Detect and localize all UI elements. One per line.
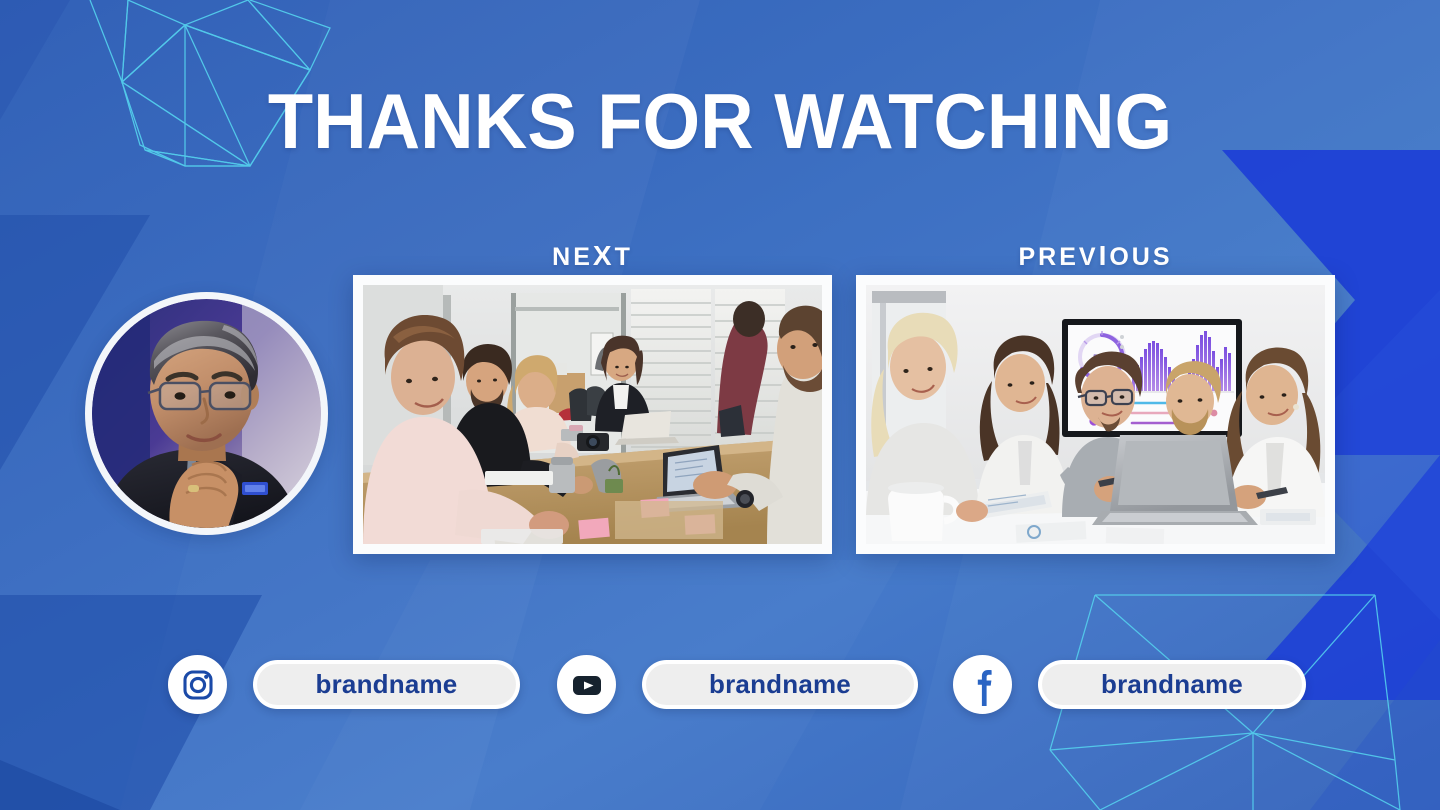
youtube-icon[interactable]	[557, 655, 616, 714]
photo-next	[363, 285, 822, 544]
instagram-handle-pill[interactable]: brandname	[253, 660, 520, 709]
facebook-icon[interactable]	[953, 655, 1012, 714]
speaker-portrait-illustration	[92, 299, 321, 528]
photo-card-previous[interactable]: 50%	[856, 275, 1335, 554]
youtube-handle-text: brandname	[709, 669, 851, 700]
social-group-facebook[interactable]: brandname	[953, 655, 1306, 714]
team-analytics-photo: 50%	[866, 285, 1325, 544]
avatar-photo	[92, 299, 321, 528]
label-next-prefix: NE	[552, 243, 593, 271]
page-title: THANKS FOR WATCHING	[36, 82, 1404, 160]
section-label-next: NEXT	[353, 240, 832, 272]
social-group-youtube[interactable]: brandname	[557, 655, 918, 714]
label-prev-prefix: PREV	[1018, 243, 1098, 271]
social-group-instagram[interactable]: brandname	[168, 655, 520, 714]
instagram-icon[interactable]	[168, 655, 227, 714]
slide-canvas: THANKS FOR WATCHING	[0, 0, 1440, 810]
label-next-suffix: T	[615, 243, 633, 271]
label-prev-suffix: OUS	[1109, 243, 1172, 271]
social-links-row: brandname brandname	[168, 655, 1306, 714]
instagram-handle-text: brandname	[316, 669, 458, 700]
avatar	[85, 292, 328, 535]
photo-previous: 50%	[866, 285, 1325, 544]
facebook-handle-text: brandname	[1101, 669, 1243, 700]
youtube-handle-pill[interactable]: brandname	[642, 660, 918, 709]
office-meeting-photo	[363, 285, 822, 544]
label-prev-accent: I	[1099, 240, 1110, 271]
section-label-previous: PREVIOUS	[856, 240, 1335, 272]
label-next-accent: X	[593, 240, 615, 271]
photo-card-next[interactable]	[353, 275, 832, 554]
facebook-handle-pill[interactable]: brandname	[1038, 660, 1306, 709]
